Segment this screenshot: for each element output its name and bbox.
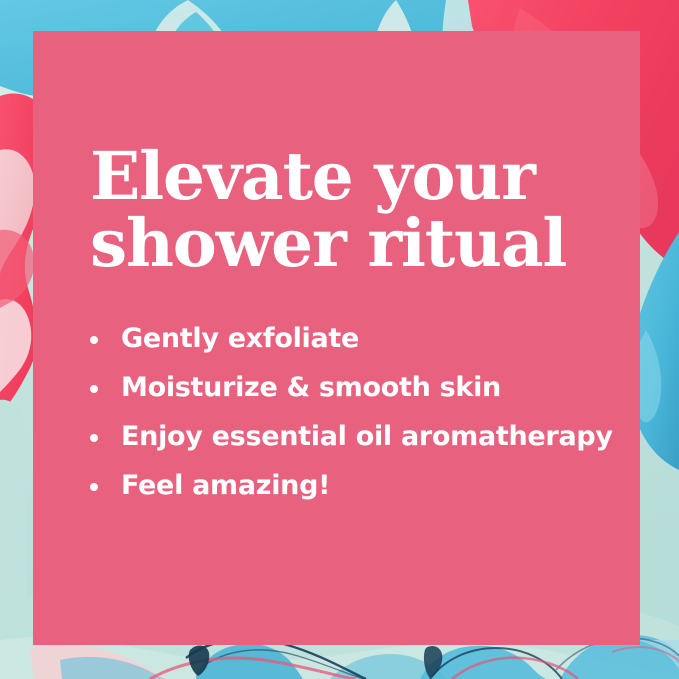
bullet-dot-icon <box>90 483 98 491</box>
promo-graphic: Elevate your shower ritual Gently exfoli… <box>0 0 679 679</box>
list-item: Moisturize & smooth skin <box>88 374 633 401</box>
list-item: Gently exfoliate <box>88 325 633 352</box>
page-title: Elevate your shower ritual <box>90 143 630 278</box>
benefit-label: Feel amazing! <box>121 470 330 501</box>
list-item: Feel amazing! <box>88 472 633 499</box>
benefits-list: Gently exfoliate Moisturize & smooth ski… <box>88 325 633 499</box>
bullet-dot-icon <box>90 385 98 393</box>
benefit-label: Enjoy essential oil aromatherapy <box>121 421 613 452</box>
promo-card: Elevate your shower ritual Gently exfoli… <box>33 31 640 645</box>
bullet-dot-icon <box>90 434 98 442</box>
headline-line-1: Elevate your <box>90 143 630 210</box>
benefit-label: Gently exfoliate <box>121 323 359 354</box>
bullet-dot-icon <box>90 336 98 344</box>
benefit-label: Moisturize & smooth skin <box>121 372 501 403</box>
list-item: Enjoy essential oil aromatherapy <box>88 423 633 450</box>
headline-line-2: shower ritual <box>90 210 630 277</box>
